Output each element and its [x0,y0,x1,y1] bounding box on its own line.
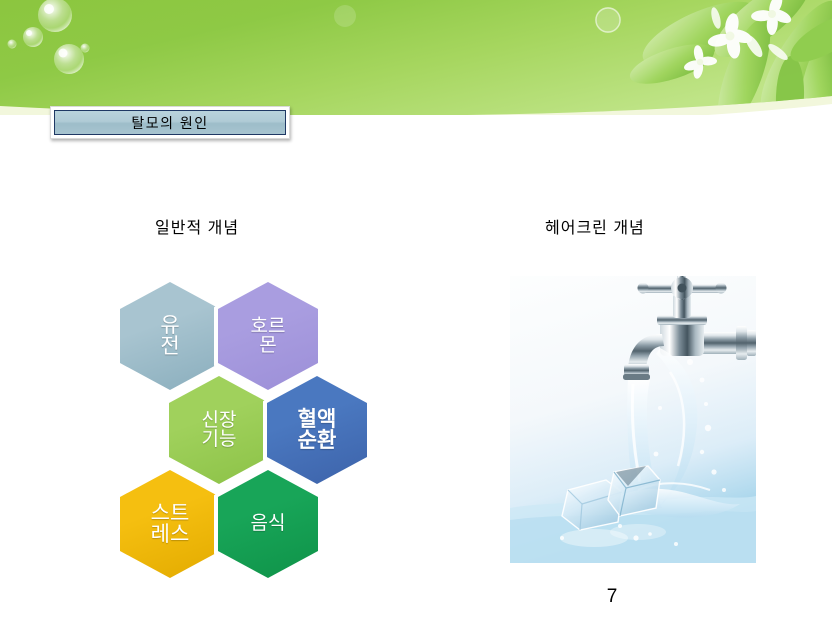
hexagon-label-genetics: 유 전 [160,315,179,358]
hexagon-label-blood-circulation: 혈액 순환 [298,409,337,452]
hexagon-label-food: 음식 [251,514,286,533]
header-band [0,0,832,115]
slide-title-inner: 탈모의 원인 [54,110,286,135]
page-number: 7 [0,586,832,608]
slide-canvas: 탈모의 원인 일반적 개념 헤어크린 개념 유 전호르 몬신장 기능혈액 순환스… [0,0,832,625]
slide-title-box: 탈모의 원인 [50,106,290,139]
hexagon-label-kidney-function: 신장 기능 [202,411,237,450]
hexagon-diagram: 유 전호르 몬신장 기능혈액 순환스트 레스음식 [110,276,380,566]
hexagon-label-stress: 스트 레스 [151,503,190,546]
left-column-heading: 일반적 개념 [155,214,239,238]
faucet-water-image [510,276,756,563]
page-title: 탈모의 원인 [131,113,208,133]
right-column-heading: 헤어크린 개념 [545,214,645,238]
hexagon-label-hormone: 호르 몬 [251,317,286,356]
page-number-value: 7 [607,586,618,607]
